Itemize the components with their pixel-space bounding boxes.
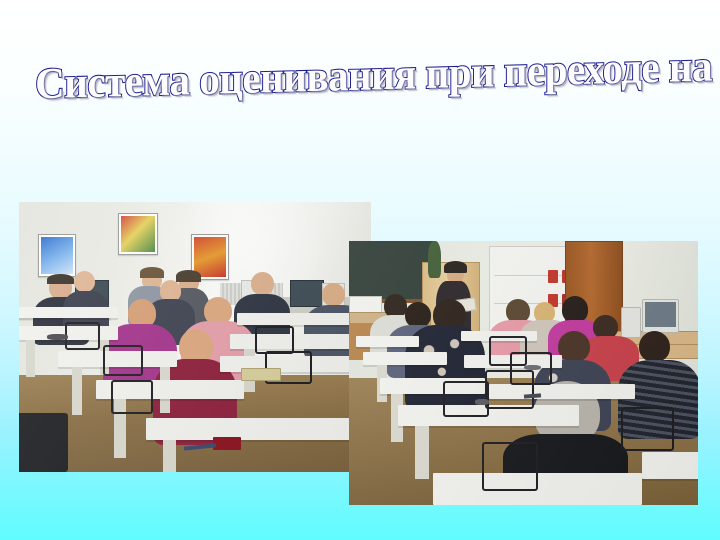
presentation-slide: Система оценивания при переходе на новый…: [0, 0, 720, 540]
photo-tone: [19, 202, 371, 472]
photo-right-scene: [349, 241, 698, 505]
page-title: Система оценивания при переходе на новый…: [35, 34, 720, 111]
classroom-photo-left: [19, 202, 371, 472]
slide-title-block: Система оценивания при переходе на новый…: [0, 46, 720, 98]
classroom-photo-right: [349, 241, 698, 505]
photo-left-scene: [19, 202, 371, 472]
photo-tone: [349, 241, 698, 505]
